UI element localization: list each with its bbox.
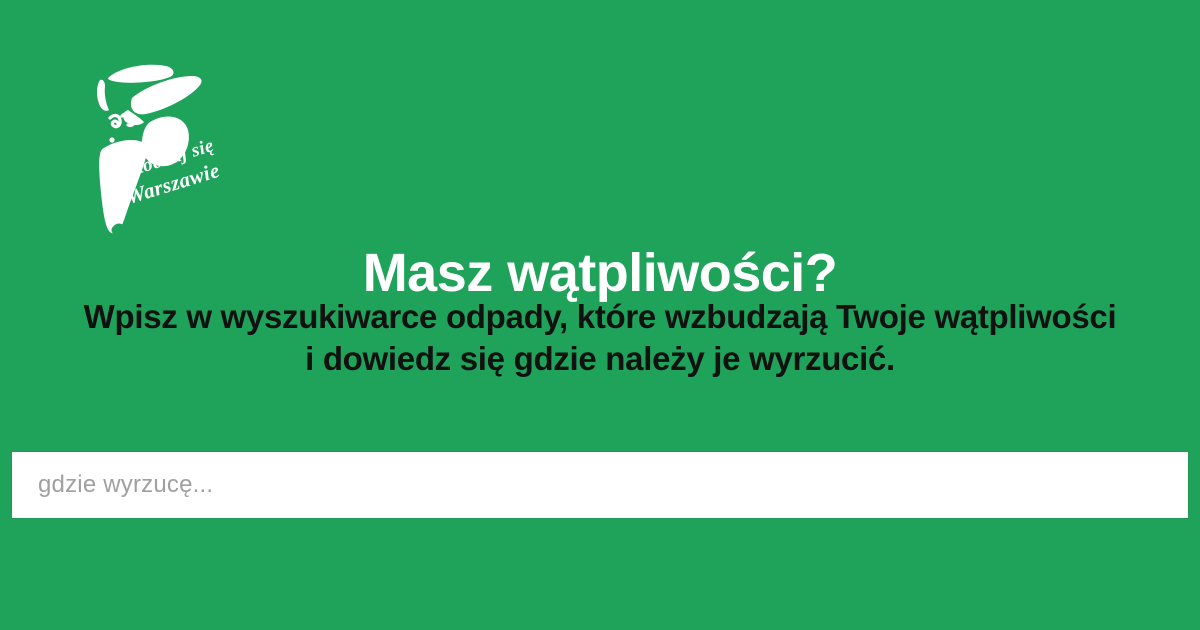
page-root: zakochaj się w Warszawie Masz wątpliwośc… [0,0,1200,630]
subtitle-line-1: Wpisz w wyszukiwarce odpady, które wzbud… [20,296,1180,338]
site-logo[interactable]: zakochaj się w Warszawie [88,52,278,242]
mermaid-logo-icon: zakochaj się w Warszawie [88,52,278,242]
search-bar[interactable] [12,452,1188,518]
page-subtitle: Wpisz w wyszukiwarce odpady, które wzbud… [20,296,1180,380]
search-input[interactable] [12,452,1188,518]
subtitle-line-2: i dowiedz się gdzie należy je wyrzucić. [20,338,1180,380]
